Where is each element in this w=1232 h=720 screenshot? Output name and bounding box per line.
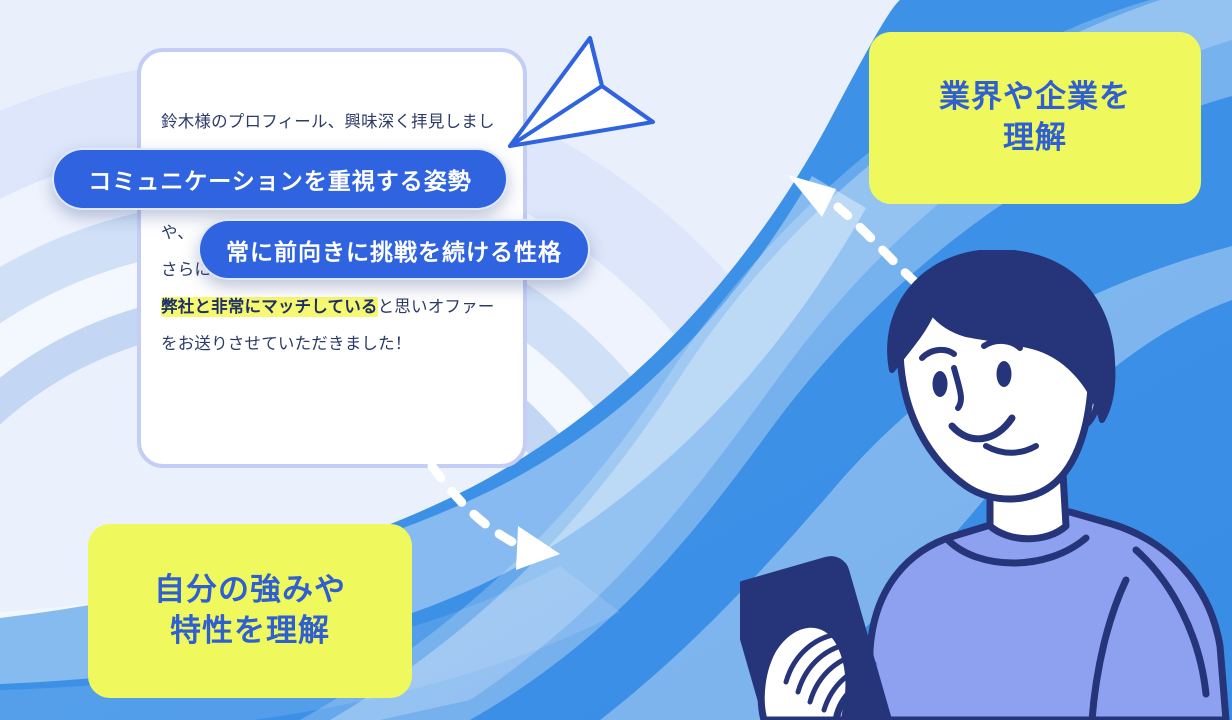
match-highlight: 弊社と非常にマッチしている (161, 297, 378, 317)
arrow-dash-path (432, 466, 520, 546)
dashed-arrow-down-right-icon (418, 458, 578, 578)
pill-challenge: 常に前向きに挑戦を続ける性格 (198, 219, 590, 280)
badge-line-2: 理解 (1003, 118, 1067, 159)
message-line-highlighted: 弊社と非常にマッチしていると思いオファー (161, 289, 521, 326)
eye-left (933, 371, 948, 397)
eye-right (997, 361, 1012, 387)
arrow-head (788, 175, 836, 217)
match-suffix: と思いオファー (378, 298, 495, 316)
badge-industry-understanding: 業界や企業を 理解 (869, 32, 1201, 204)
badge-line-2: 特性を理解 (170, 611, 330, 652)
pill-communication: コミュニケーションを重視する姿勢 (52, 148, 508, 210)
arrow-head (516, 526, 560, 570)
paper-plane-icon (498, 24, 668, 174)
badge-self-understanding: 自分の強みや 特性を理解 (88, 524, 412, 698)
badge-line-1: 業界や企業を (939, 77, 1131, 118)
shirt (870, 512, 1226, 720)
illustration-canvas: 鈴木様のプロフィール、興味深く拝見しまし た。 とい や、 さらに志望業界や「会… (0, 0, 1232, 720)
person-with-smartphone-illustration (740, 250, 1232, 720)
message-line: 鈴木様のプロフィール、興味深く拝見しまし (161, 104, 521, 141)
message-line: をお送りさせていただきました！ (161, 326, 521, 363)
badge-line-1: 自分の強みや (154, 570, 346, 611)
